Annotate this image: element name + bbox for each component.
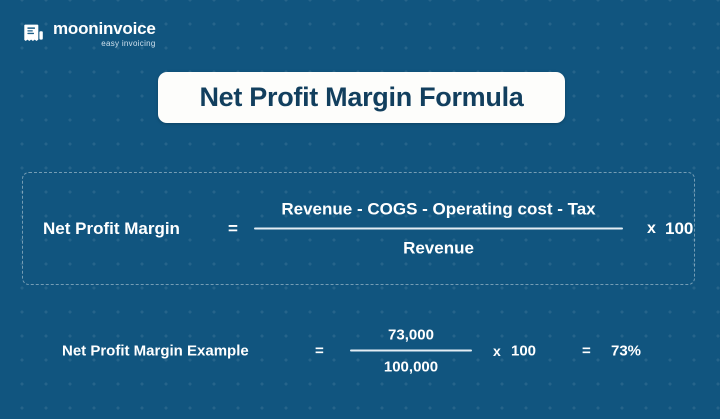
example-row: Net Profit Margin Example = 73,000 100,0…	[0, 312, 720, 390]
brand-text: mooninvoice easy invoicing	[53, 20, 156, 48]
example-result: 73%	[611, 343, 641, 360]
example-label: Net Profit Margin Example	[62, 343, 249, 360]
example-multiply-sign: x	[493, 343, 501, 359]
formula-label: Net Profit Margin	[43, 219, 180, 239]
page-title-card: Net Profit Margin Formula	[158, 72, 565, 123]
brand-name: mooninvoice	[53, 20, 156, 38]
formula-row: Net Profit Margin = Revenue - COGS - Ope…	[23, 173, 694, 284]
formula-panel: Net Profit Margin = Revenue - COGS - Ope…	[22, 172, 695, 285]
formula-equals-sign: =	[228, 219, 238, 239]
formula-fraction-bar	[254, 227, 623, 229]
example-numerator: 73,000	[388, 327, 434, 344]
example-fraction: 73,000 100,000	[350, 327, 472, 376]
brand-logo[interactable]: mooninvoice easy invoicing	[22, 20, 156, 48]
formula-denominator: Revenue	[403, 238, 474, 258]
example-equals-sign: =	[315, 343, 324, 360]
formula-fraction: Revenue - COGS - Operating cost - Tax Re…	[254, 199, 623, 258]
example-multiplier: 100	[511, 343, 536, 360]
example-equals-sign-2: =	[582, 343, 591, 360]
net-profit-margin-infographic: { "theme": { "background": "#11557f", "c…	[0, 0, 720, 419]
example-fraction-bar	[350, 350, 472, 352]
brand-tagline: easy invoicing	[53, 40, 156, 48]
formula-multiplier: 100	[665, 219, 693, 239]
invoice-document-icon	[22, 22, 46, 46]
example-denominator: 100,000	[384, 359, 438, 376]
page-title: Net Profit Margin Formula	[199, 82, 523, 113]
formula-numerator: Revenue - COGS - Operating cost - Tax	[281, 199, 595, 219]
formula-multiply-sign: x	[647, 220, 656, 238]
